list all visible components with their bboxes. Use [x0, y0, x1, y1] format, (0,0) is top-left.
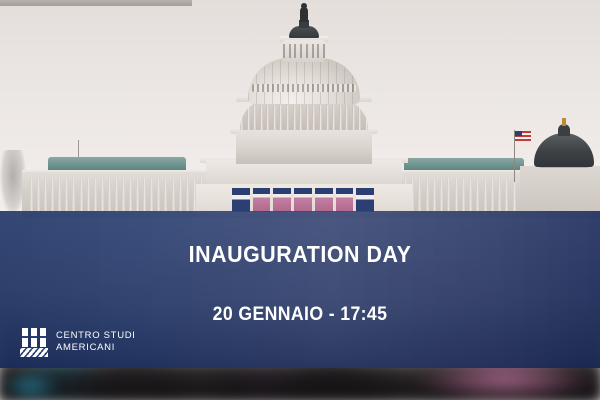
logo-wordmark: CENTRO STUDI AMERICANI — [56, 330, 136, 354]
dome-ribs — [248, 60, 360, 104]
page-title: INAUGURATION DAY — [21, 243, 579, 266]
banner-graphic: INAUGURATION DAY 20 GENNAIO - 17:45 CENT… — [0, 0, 600, 400]
capitol-left-roof-trim — [0, 0, 192, 6]
blurred-crowd-base — [0, 366, 600, 400]
logo-line-2: AMERICANI — [56, 342, 136, 354]
steps-icon — [20, 348, 48, 357]
capitol-left-colonnade — [30, 178, 210, 212]
patriotic-bunting — [232, 188, 374, 212]
us-capitol-building — [0, 0, 600, 230]
capitol-left-roof — [48, 157, 186, 171]
columns-icon — [22, 328, 46, 347]
dome-base-drum — [236, 132, 372, 164]
columns-building-icon — [20, 328, 48, 356]
dome-ring-windows — [252, 84, 356, 92]
tholos-lantern — [283, 40, 325, 62]
statue-of-freedom — [300, 7, 308, 22]
centro-studi-americani-logo: CENTRO STUDI AMERICANI — [20, 328, 136, 356]
event-datetime: 20 GENNAIO - 17:45 — [21, 305, 579, 324]
library-of-congress-finial — [562, 118, 566, 126]
library-of-congress-dome — [534, 133, 594, 167]
logo-line-1: CENTRO STUDI — [56, 330, 136, 342]
us-flag-icon — [515, 131, 531, 141]
